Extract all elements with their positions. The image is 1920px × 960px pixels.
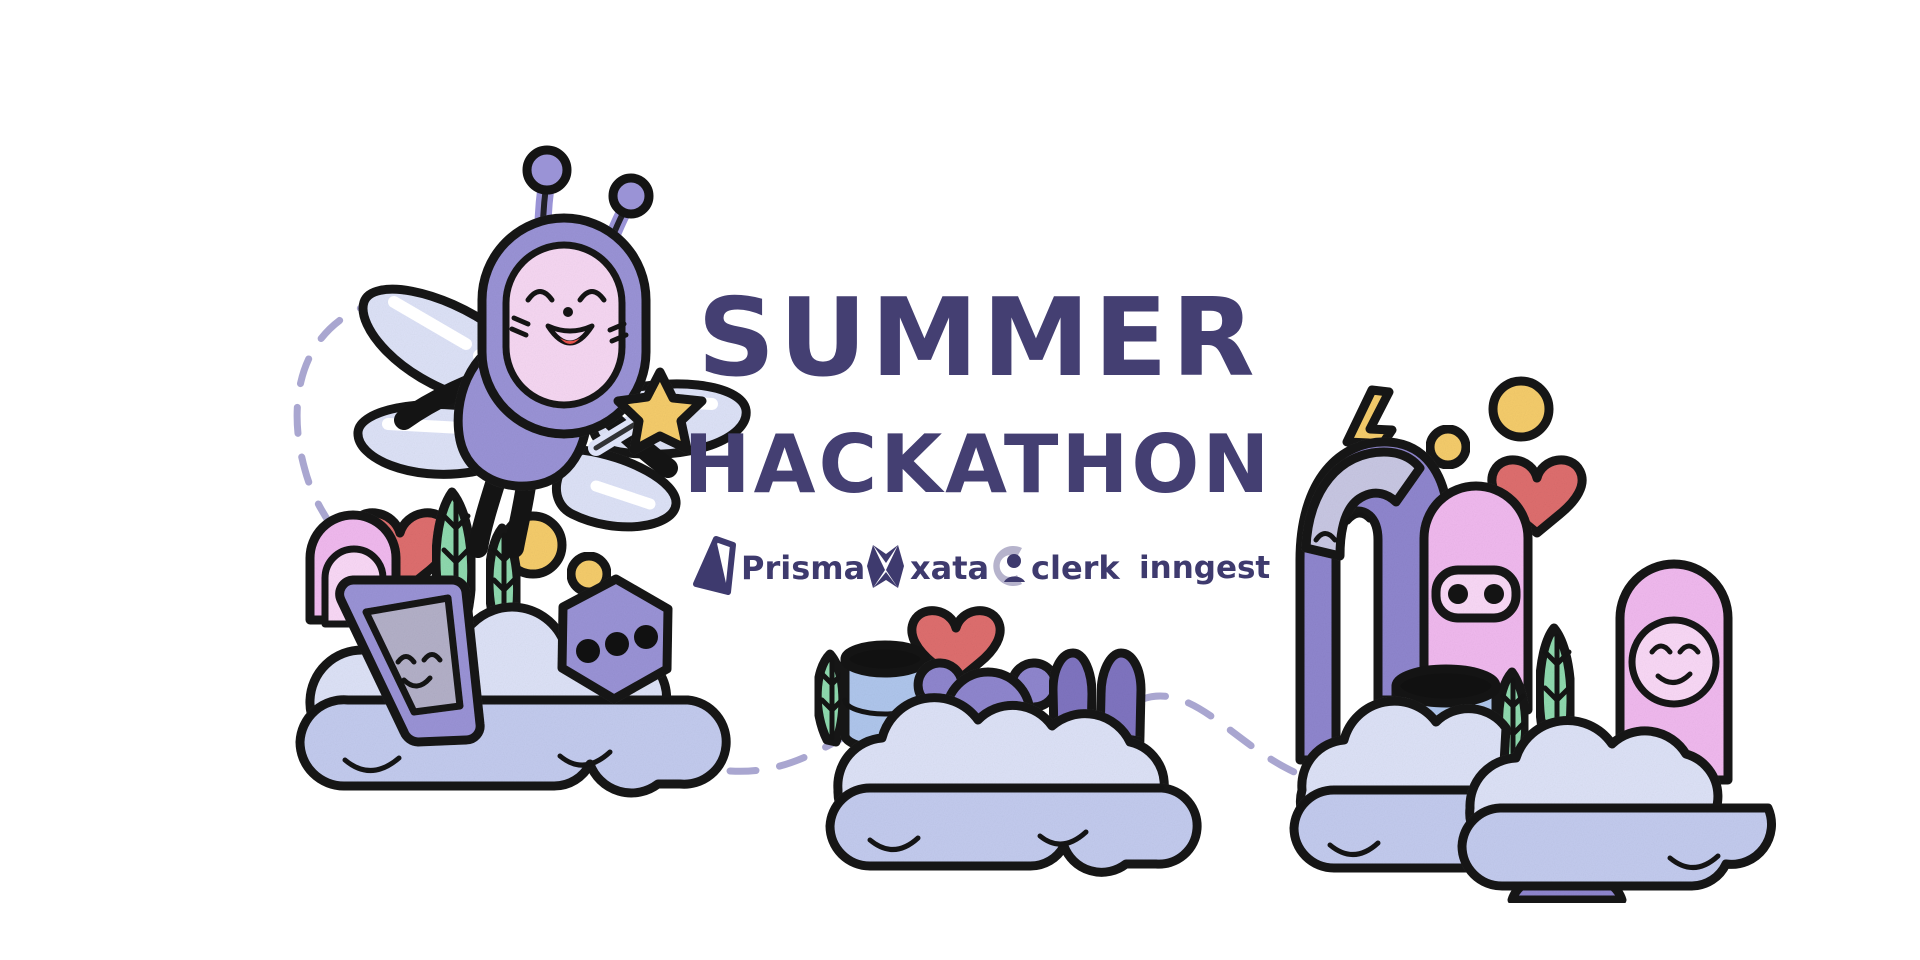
yellow-circle-small [1430, 429, 1466, 465]
sponsor-clerk[interactable]: clerk [993, 546, 1120, 587]
sponsor-clerk-label: clerk [1031, 549, 1120, 587]
sponsor-inngest[interactable]: inngest [1139, 550, 1270, 586]
yellow-circle-large [1493, 381, 1549, 437]
headline-group: SUMMER HACKATHON [684, 276, 1273, 511]
banner-illustration: .ol { stroke:#141414; stroke-width:9; st… [0, 0, 1920, 960]
sponsor-prisma-label: Prisma [741, 549, 865, 587]
page-title-line1: SUMMER [697, 276, 1258, 401]
page-title-line2: HACKATHON [684, 418, 1273, 511]
sponsor-inngest-label: inngest [1139, 550, 1270, 586]
sponsor-xata-label: xata [910, 549, 989, 587]
green-leaf-plant [817, 654, 843, 742]
purple-hexagon-dots [562, 579, 668, 699]
hackathon-banner: .ol { stroke:#141414; stroke-width:9; st… [0, 0, 1920, 960]
